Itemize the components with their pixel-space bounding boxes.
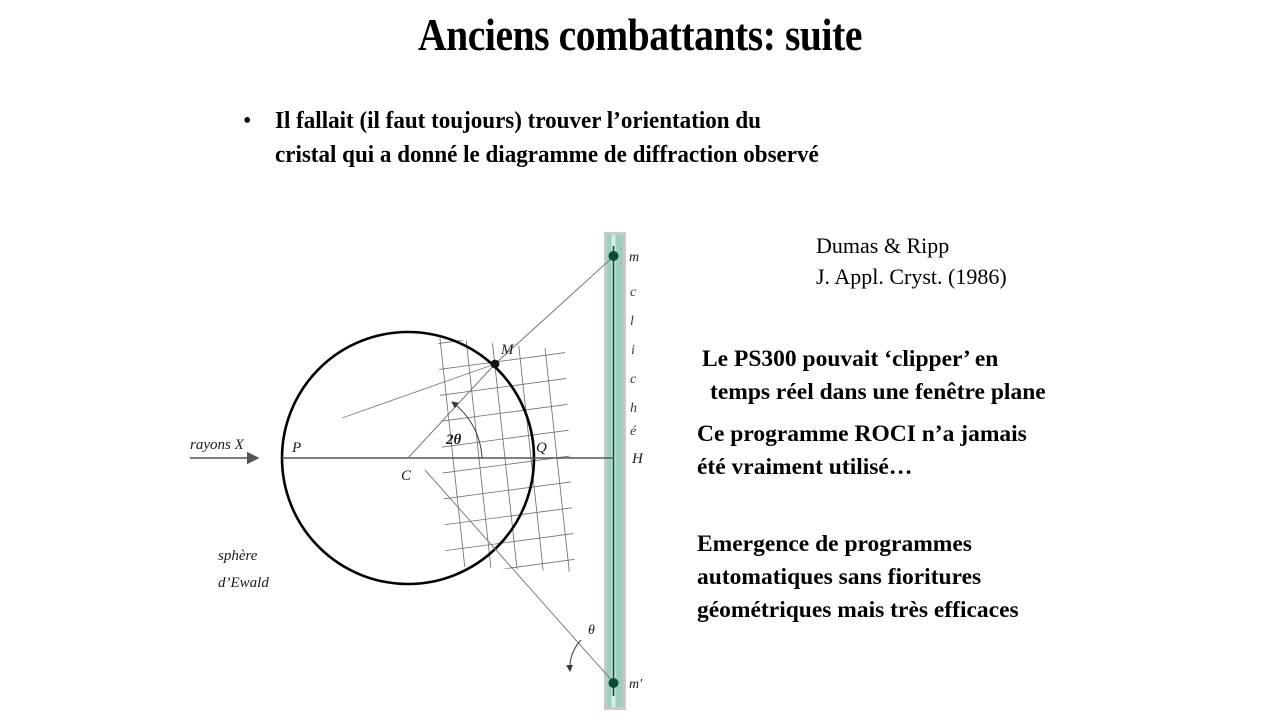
label-H: H [631, 451, 644, 467]
note-emergence-programs: Emergence de programmes automatiques san… [697, 528, 1019, 627]
label-P: P [291, 440, 301, 456]
label-m-prime: m′ [629, 677, 643, 692]
film-letter-2: i [631, 343, 635, 358]
label-theta: θ [588, 623, 595, 638]
label-C: C [401, 468, 412, 484]
film-letter-0: c [630, 285, 637, 300]
bullet-list: • Il fallait (il faut toujours) trouver … [243, 104, 963, 172]
film-label-cliche: c l i c h é [630, 285, 637, 439]
label-Q: Q [536, 440, 547, 456]
bullet-marker-icon: • [243, 104, 275, 138]
note-ps300-line-1: Le PS300 pouvait ‘clipper’ en [702, 346, 998, 372]
bullet-line-2: cristal qui a donné le diagramme de diff… [275, 138, 819, 172]
film-letter-4: h [630, 401, 637, 416]
label-M: M [500, 342, 515, 358]
label-m: m [629, 250, 639, 265]
caption-sphere-line-1: sphère [218, 548, 258, 564]
bullet-line-1: Il fallait (il faut toujours) trouver l’… [275, 104, 819, 138]
citation-credit: Dumas & Ripp J. Appl. Cryst. (1986) [816, 230, 1007, 292]
angle-arc-two-theta [452, 402, 482, 458]
note-ps300-line-2: temps réel dans une fenêtre plane [702, 376, 1046, 409]
page-title: Anciens combattants: suite [77, 12, 1203, 59]
film-strip [604, 232, 626, 710]
film-letter-1: l [630, 314, 634, 329]
reciprocal-lattice-grid [412, 320, 626, 615]
label-rayons-x: rayons X [190, 437, 245, 453]
film-letter-3: c [630, 372, 637, 387]
point-m-prime-dot [609, 678, 619, 688]
note-roci-program: Ce programme ROCI n’a jamais été vraimen… [697, 418, 1027, 484]
point-M-dot [491, 360, 500, 369]
point-m-dot [609, 251, 619, 261]
label-two-theta: 2θ [445, 432, 462, 448]
list-item: • Il fallait (il faut toujours) trouver … [243, 104, 963, 172]
ewald-sphere-diagram: P C Q M H m m′ 2θ θ rayons X sphère d’Ew… [170, 220, 690, 715]
caption-sphere-line-2: d’Ewald [218, 575, 269, 591]
film-letter-5: é [630, 424, 637, 439]
